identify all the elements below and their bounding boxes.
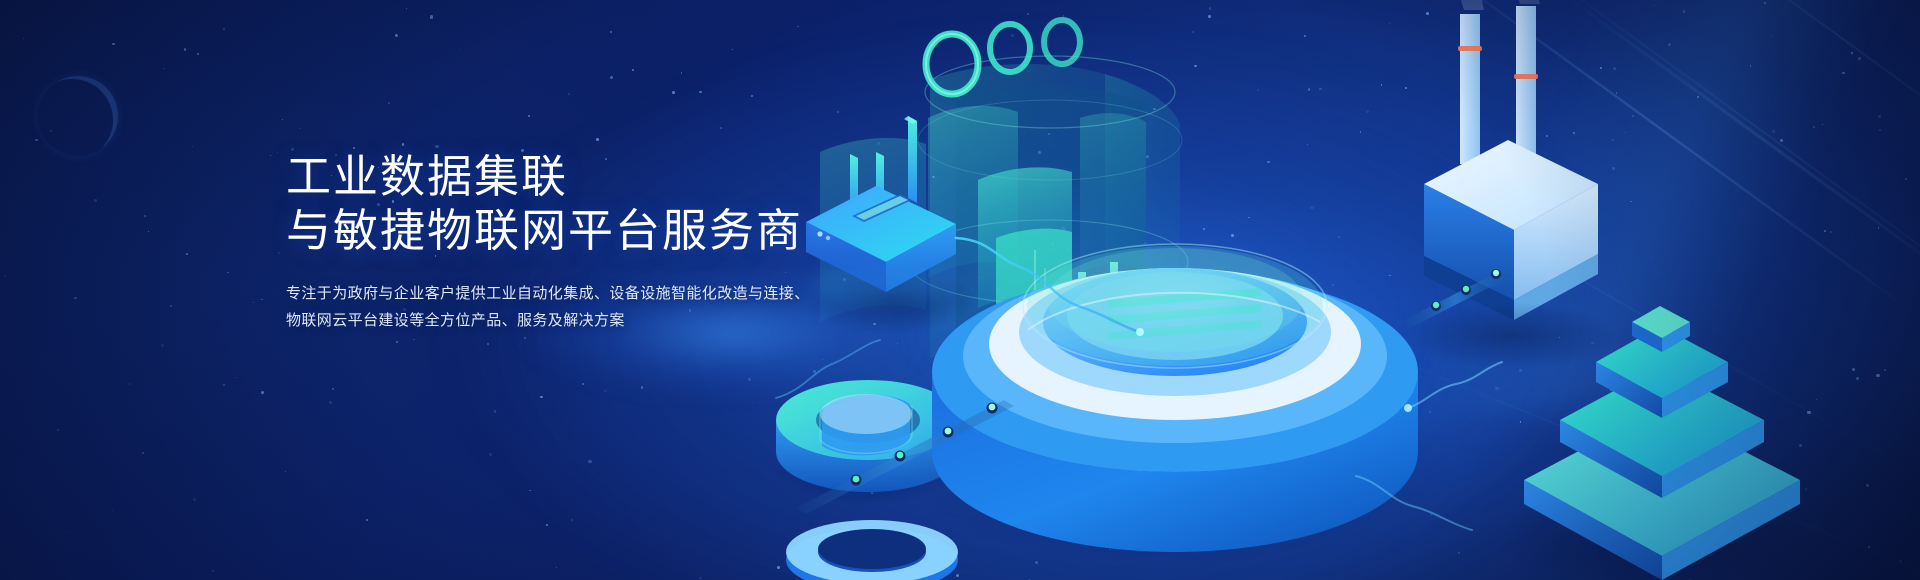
headline-line-1: 工业数据集联 — [286, 150, 846, 204]
subtitle-line-2: 物联网云平台建设等全方位产品、服务及解决方案 — [286, 307, 846, 334]
headline-line-2: 与敏捷物联网平台服务商 — [286, 204, 846, 258]
hero-copy: 工业数据集联 与敏捷物联网平台服务商 专注于为政府与企业客户提供工业自动化集成、… — [286, 150, 846, 334]
hero-banner: 工业数据集联 与敏捷物联网平台服务商 专注于为政府与企业客户提供工业自动化集成、… — [0, 0, 1920, 580]
subtitle-line-1: 专注于为政府与企业客户提供工业自动化集成、设备设施智能化改造与连接、 — [286, 280, 846, 307]
